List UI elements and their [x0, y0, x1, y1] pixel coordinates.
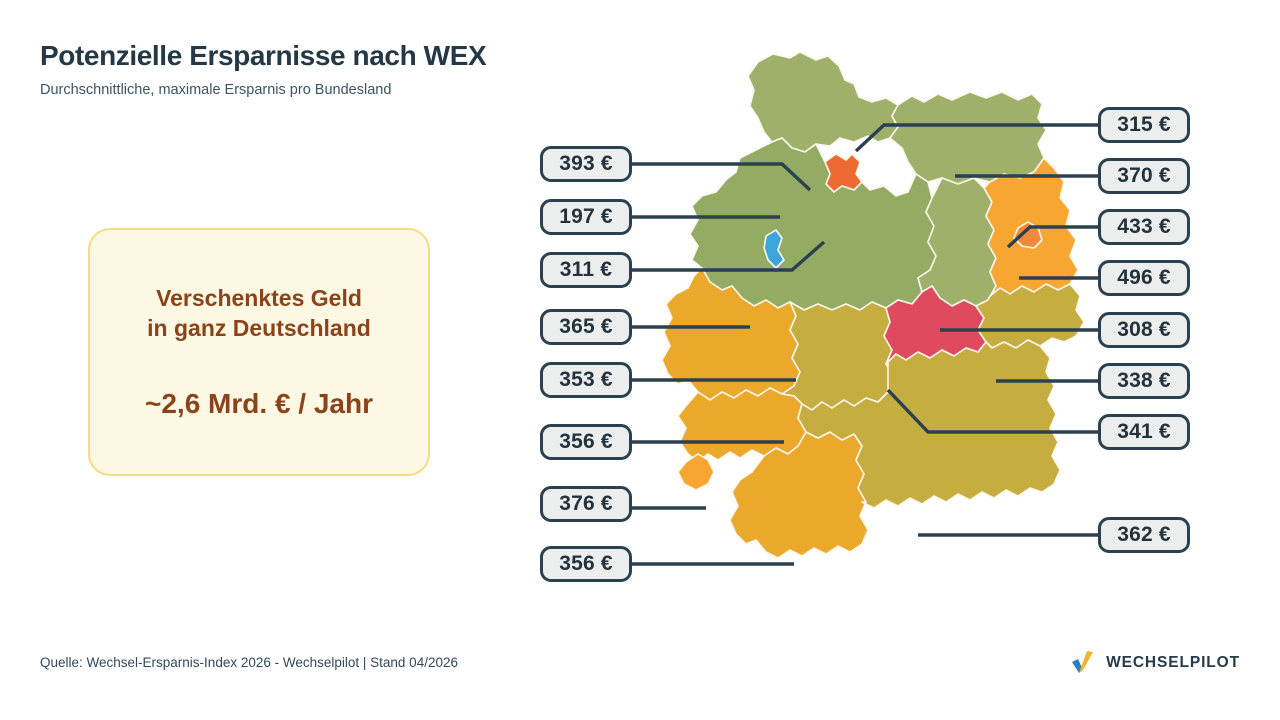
check-mark-icon [1071, 650, 1097, 676]
source-note: Quelle: Wechsel-Ersparnis-Index 2026 - W… [40, 655, 458, 670]
callout-hessen[interactable]: 353 € [540, 362, 632, 398]
callout-thueringen-value: 341 € [1117, 420, 1171, 444]
state-mecklenburg-vorpommern[interactable] [890, 92, 1046, 184]
callout-saarland-value: 376 € [559, 492, 613, 516]
highlight-card-heading-line2: in ganz Deutschland [147, 314, 371, 344]
callout-hamburg[interactable]: 393 € [540, 146, 632, 182]
callout-rheinland-pfalz-value: 356 € [559, 430, 613, 454]
callout-hamburg-value: 393 € [559, 152, 613, 176]
callout-sachsen-anhalt-value: 308 € [1117, 318, 1171, 342]
callout-rheinland-pfalz[interactable]: 356 € [540, 424, 632, 460]
callout-berlin[interactable]: 496 € [1098, 260, 1190, 296]
brand-logo: WECHSELPILOT [1071, 650, 1240, 676]
callout-brandenburg-value: 433 € [1117, 215, 1171, 239]
state-hessen[interactable] [782, 302, 894, 410]
callout-brandenburg[interactable]: 433 € [1098, 209, 1190, 245]
callout-thueringen[interactable]: 341 € [1098, 414, 1190, 450]
callout-bremen[interactable]: 197 € [540, 199, 632, 235]
callout-berlin-value: 496 € [1117, 266, 1171, 290]
callout-saarland[interactable]: 376 € [540, 486, 632, 522]
state-rheinland-pfalz[interactable] [678, 388, 806, 462]
callout-sachsen-value: 338 € [1117, 369, 1171, 393]
callout-schleswig-holstein[interactable]: 315 € [1098, 107, 1190, 143]
brand-name: WECHSELPILOT [1106, 654, 1240, 672]
callout-niedersachsen-value: 311 € [560, 258, 612, 282]
callout-sachsen[interactable]: 338 € [1098, 363, 1190, 399]
callout-schleswig-holstein-value: 315 € [1117, 113, 1171, 137]
callout-niedersachsen[interactable]: 311 € [540, 252, 632, 288]
callout-baden-wuerttemberg[interactable]: 356 € [540, 546, 632, 582]
callout-mecklenburg-vorpommern[interactable]: 370 € [1098, 158, 1190, 194]
callout-nrw-value: 365 € [559, 315, 613, 339]
state-schleswig-holstein[interactable] [748, 52, 898, 152]
highlight-card: Verschenktes Geld in ganz Deutschland ~2… [88, 228, 430, 476]
callout-bayern[interactable]: 362 € [1098, 517, 1190, 553]
callout-baden-wuerttemberg-value: 356 € [559, 552, 613, 576]
state-saarland[interactable] [678, 454, 714, 490]
callout-sachsen-anhalt[interactable]: 308 € [1098, 312, 1190, 348]
callout-bremen-value: 197 € [559, 205, 613, 229]
callout-hessen-value: 353 € [559, 368, 613, 392]
highlight-card-heading: Verschenktes Geld in ganz Deutschland [147, 284, 371, 344]
callout-mecklenburg-vorpommern-value: 370 € [1117, 164, 1171, 188]
page-title: Potenzielle Ersparnisse nach WEX [40, 40, 486, 72]
callout-nordrhein-westfalen[interactable]: 365 € [540, 309, 632, 345]
page-subtitle: Durchschnittliche, maximale Ersparnis pr… [40, 82, 391, 98]
highlight-card-heading-line1: Verschenktes Geld [147, 284, 371, 314]
callout-bayern-value: 362 € [1117, 523, 1171, 547]
state-niedersachsen[interactable] [690, 138, 936, 310]
infographic-canvas: Potenzielle Ersparnisse nach WEX Durchsc… [0, 0, 1280, 720]
highlight-card-amount: ~2,6 Mrd. € / Jahr [145, 388, 373, 420]
state-sachsen[interactable] [976, 284, 1084, 348]
